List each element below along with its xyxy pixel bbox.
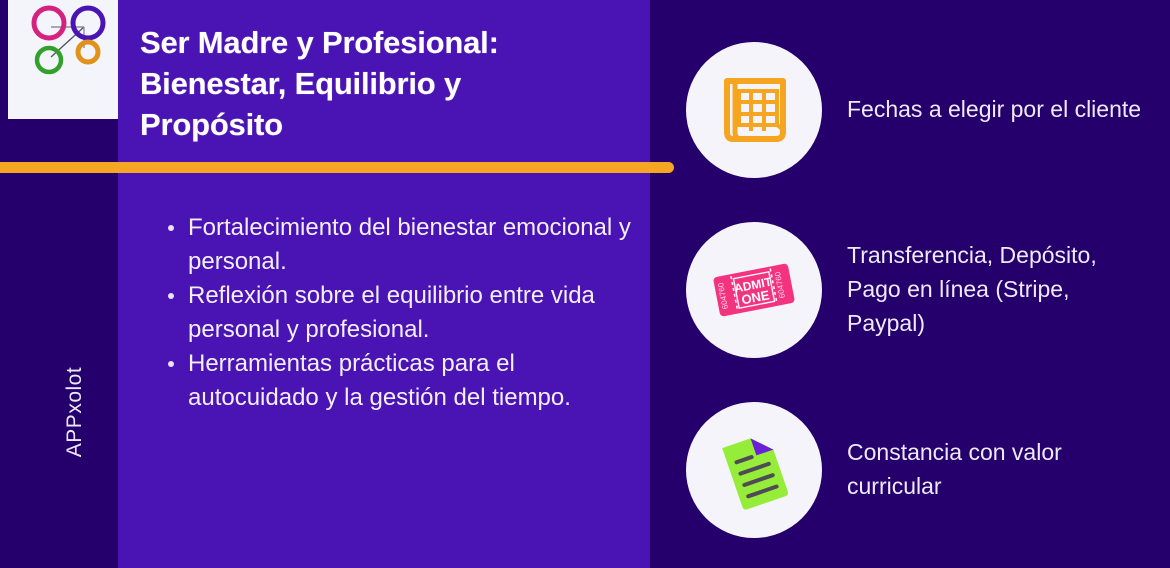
feature-item-certificate: Constancia con valor curricular	[686, 402, 1156, 538]
feature-item-dates: Fechas a elegir por el cliente	[686, 42, 1156, 178]
calendar-icon	[713, 69, 795, 151]
slide-root: Ser Madre y Profesional: Bienestar, Equi…	[0, 0, 1170, 568]
node-pink-icon	[34, 8, 64, 38]
list-item: Herramientas prácticas para el autocuida…	[164, 347, 634, 415]
feature-list: Fechas a elegir por el cliente ADMIT ONE…	[686, 42, 1156, 538]
accent-divider	[0, 162, 674, 173]
node-orange-icon	[78, 42, 98, 62]
admit-one-ticket-icon: ADMIT ONE 604760 604760	[708, 249, 800, 331]
list-item: Fortalecimiento del bienestar emocional …	[164, 211, 634, 279]
brand-watermark: APPxolot	[63, 332, 87, 492]
appxolot-network-logo	[8, 0, 118, 119]
feature-label: Fechas a elegir por el cliente	[847, 93, 1147, 127]
node-green-icon	[37, 48, 61, 72]
feature-icon-badge: ADMIT ONE 604760 604760	[686, 222, 822, 358]
feature-item-payment: ADMIT ONE 604760 604760 Transferencia, D…	[686, 222, 1156, 358]
document-certificate-icon	[711, 427, 797, 513]
node-purple-icon	[73, 8, 103, 38]
feature-icon-badge	[686, 42, 822, 178]
bullet-list: Fortalecimiento del bienestar emocional …	[164, 211, 634, 415]
list-item: Reflexión sobre el equilibrio entre vida…	[164, 279, 634, 347]
logo-card	[8, 0, 118, 119]
feature-label: Constancia con valor curricular	[847, 436, 1147, 504]
feature-icon-badge	[686, 402, 822, 538]
page-title: Ser Madre y Profesional: Bienestar, Equi…	[140, 22, 640, 146]
feature-label: Transferencia, Depósito, Pago en línea (…	[847, 239, 1147, 340]
